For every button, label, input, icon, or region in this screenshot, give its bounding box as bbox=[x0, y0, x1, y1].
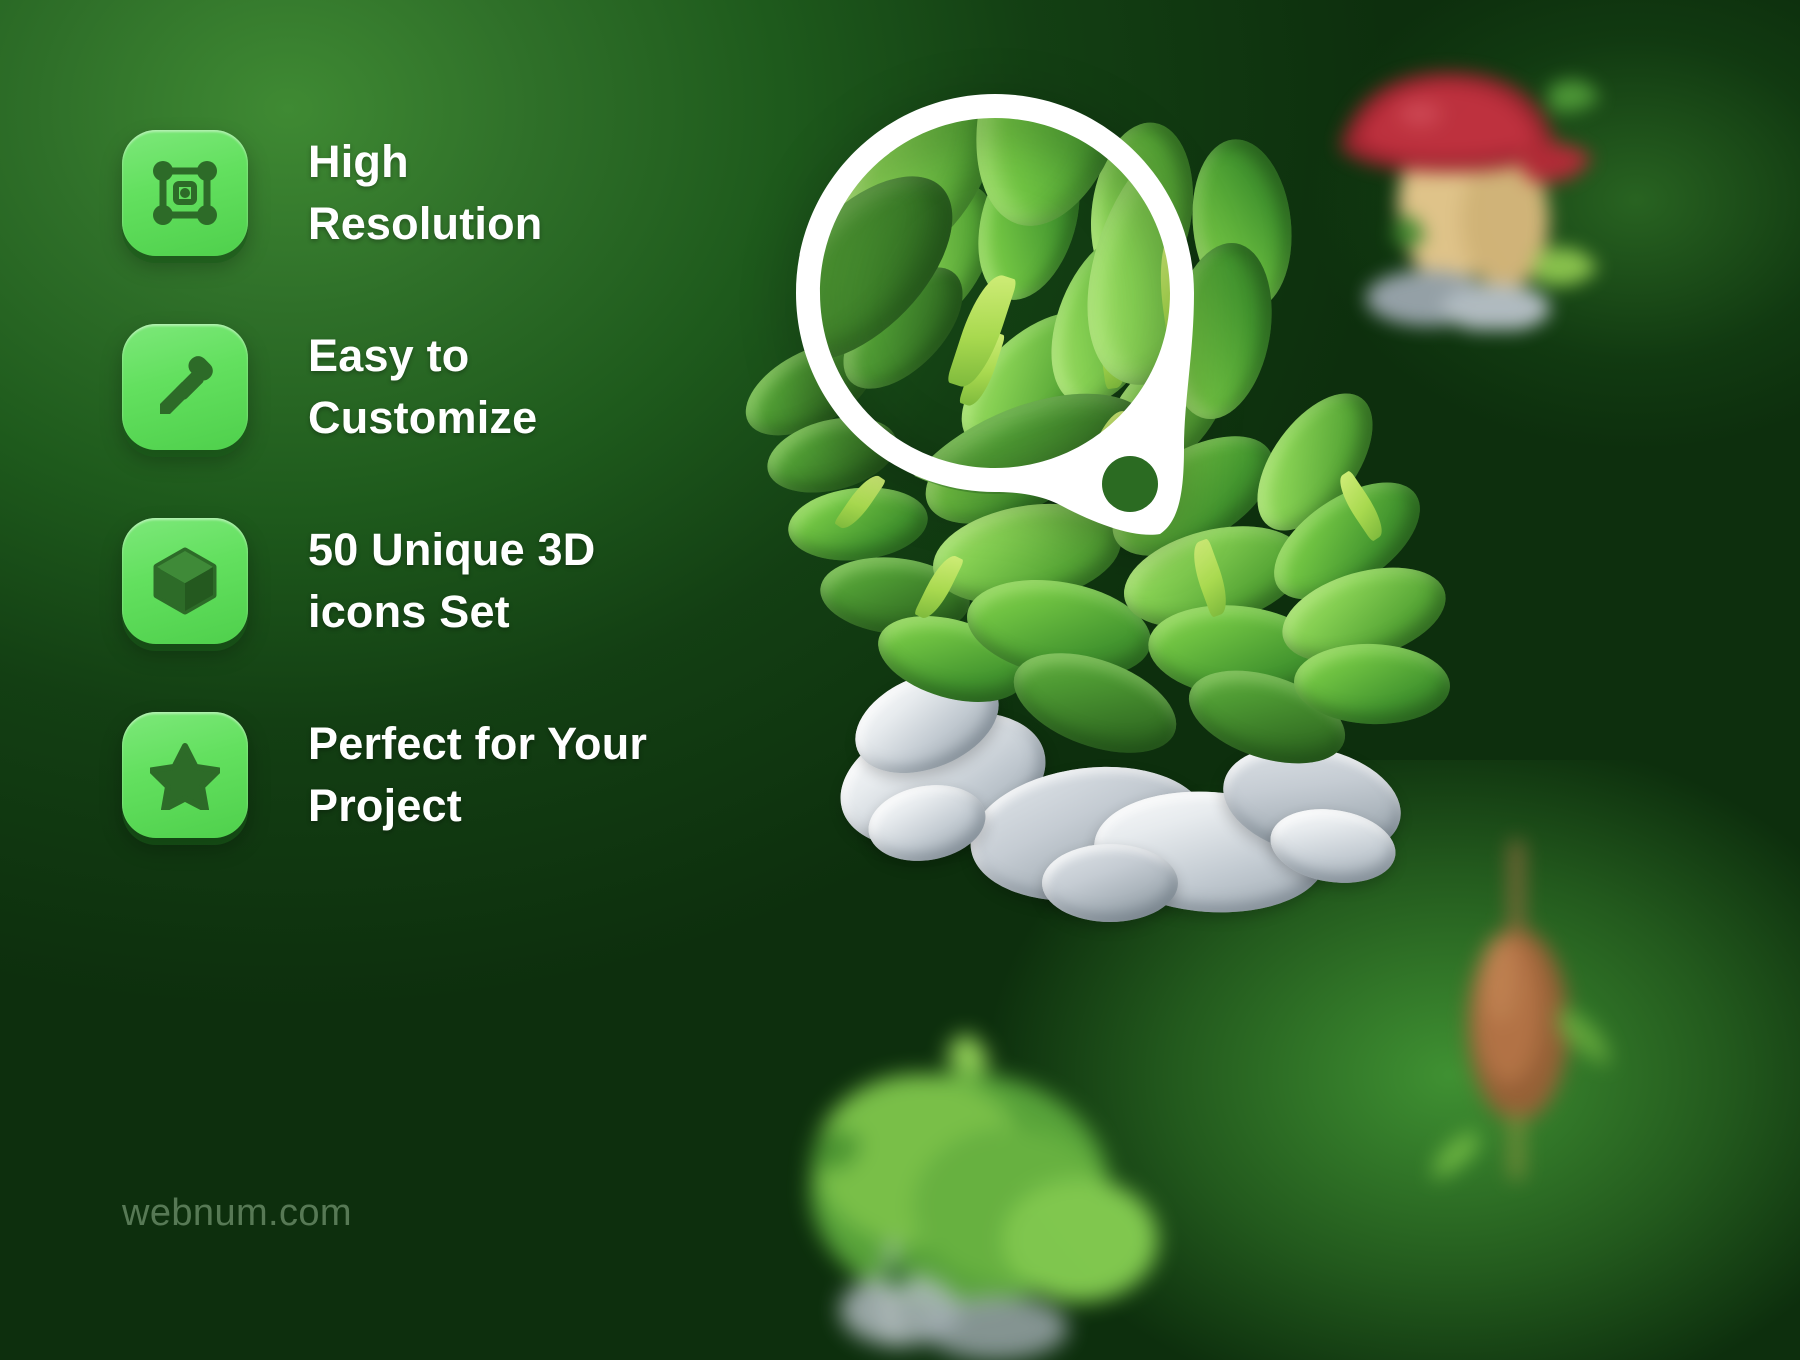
bounding-box-icon bbox=[122, 130, 248, 256]
product-scene bbox=[640, 0, 1800, 1360]
feature-item-easy-to-customize[interactable]: Easy to Customize bbox=[122, 324, 742, 450]
feature-label: 50 Unique 3D icons Set bbox=[308, 519, 595, 643]
eyedropper-icon bbox=[122, 324, 248, 450]
cube-3d-icon bbox=[122, 518, 248, 644]
magnifier-dot-icon bbox=[1102, 456, 1158, 512]
feature-list: High Resolution Easy to Customize bbox=[122, 130, 742, 838]
feature-label: Perfect for Your Project bbox=[308, 713, 647, 837]
feature-item-perfect-for-your-project[interactable]: Perfect for Your Project bbox=[122, 712, 742, 838]
poster-canvas: High Resolution Easy to Customize bbox=[0, 0, 1800, 1360]
feature-label: Easy to Customize bbox=[308, 325, 537, 449]
feature-item-50-unique-3d-icons[interactable]: 50 Unique 3D icons Set bbox=[122, 518, 742, 644]
feature-item-high-resolution[interactable]: High Resolution bbox=[122, 130, 742, 256]
blurred-bush-prop bbox=[750, 1010, 1170, 1360]
star-icon bbox=[122, 712, 248, 838]
watermark-text: webnum.com bbox=[122, 1192, 352, 1235]
feature-label: High Resolution bbox=[308, 131, 543, 255]
pebble bbox=[1042, 844, 1178, 922]
magnifier-callout[interactable] bbox=[780, 90, 1210, 540]
